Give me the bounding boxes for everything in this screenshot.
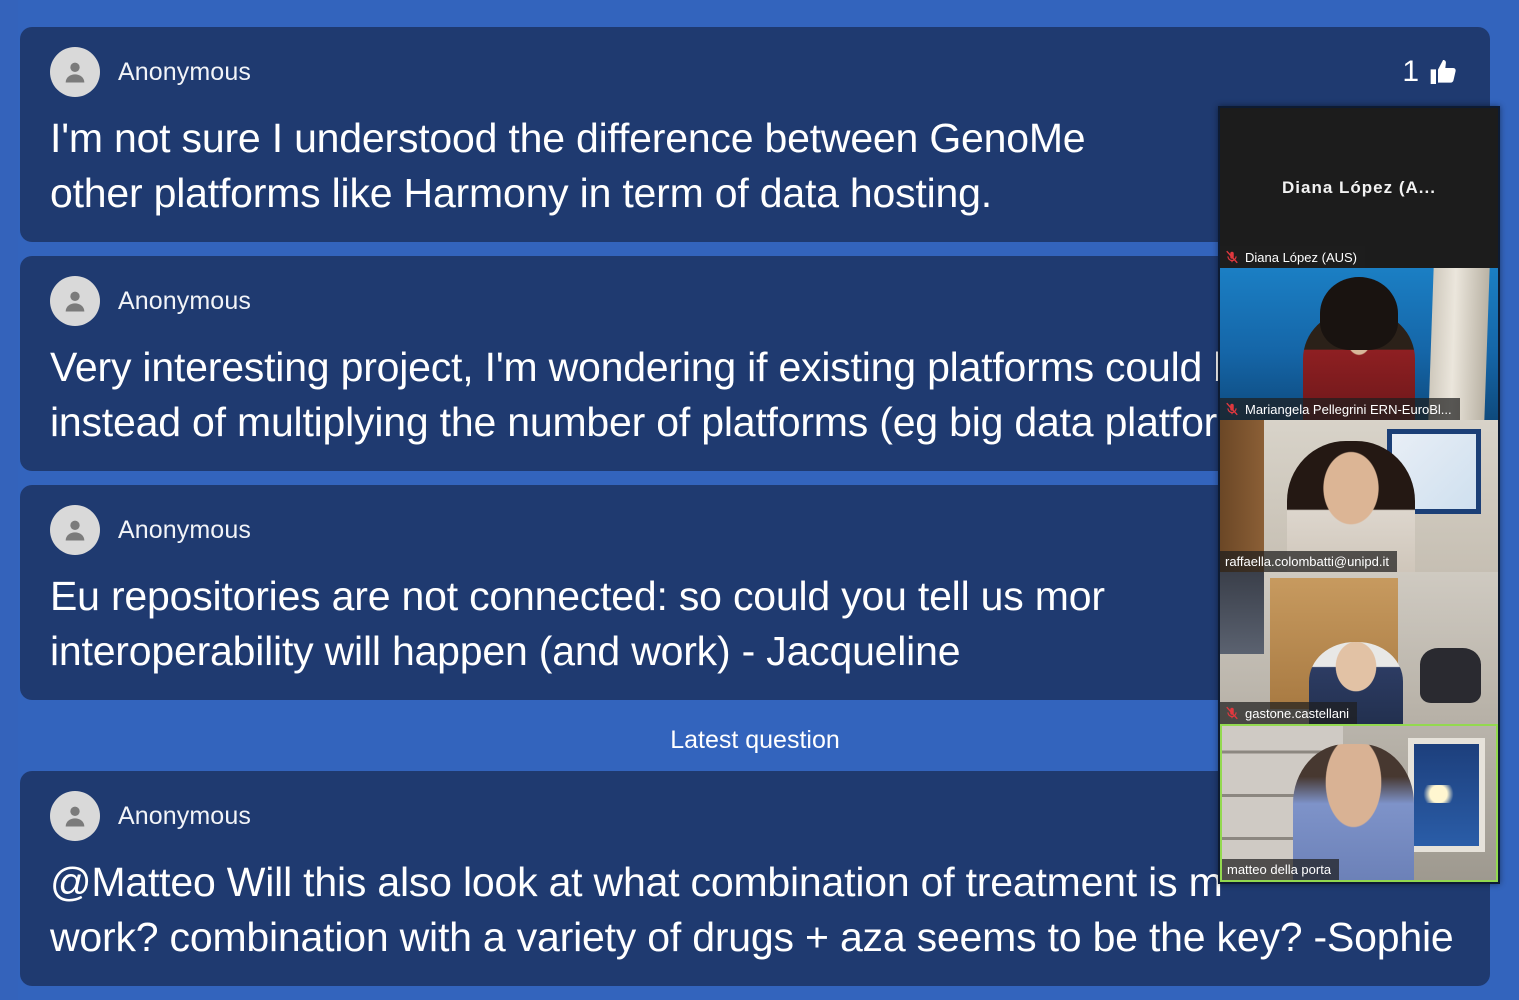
- video-tile-center-name: Diana López (A...: [1282, 178, 1436, 198]
- question-author: Anonymous: [118, 287, 251, 316]
- video-tile-name-label: gastone.castellani: [1245, 706, 1349, 721]
- video-tile-namebar: matteo della porta: [1222, 859, 1339, 880]
- video-tile-namebar: gastone.castellani: [1220, 702, 1357, 724]
- microphone-muted-icon: [1225, 705, 1239, 721]
- video-tile-namebar: Diana López (AUS): [1220, 246, 1365, 268]
- video-tile[interactable]: gastone.castellani: [1220, 572, 1498, 724]
- video-tile-name-label: matteo della porta: [1227, 862, 1331, 877]
- video-tile-namebar: Mariangela Pellegrini ERN-EuroBl...: [1220, 398, 1460, 420]
- question-author: Anonymous: [118, 58, 251, 87]
- microphone-muted-icon: [1225, 401, 1239, 417]
- question-author: Anonymous: [118, 516, 251, 545]
- microphone-muted-icon: [1225, 249, 1239, 265]
- video-tile-name-label: Diana López (AUS): [1245, 250, 1357, 265]
- video-tile[interactable]: raffaella.colombatti@unipd.it: [1220, 420, 1498, 572]
- video-tile[interactable]: Diana López (A... Diana López (AUS): [1220, 108, 1498, 268]
- like-counter[interactable]: 1: [1402, 56, 1460, 88]
- question-card-header: Anonymous 1: [50, 45, 1460, 99]
- video-tile-name-label: raffaella.colombatti@unipd.it: [1225, 554, 1389, 569]
- video-participants-panel[interactable]: Diana López (A... Diana López (AUS): [1218, 106, 1500, 884]
- person-avatar-icon: [50, 47, 100, 97]
- video-tile-namebar: raffaella.colombatti@unipd.it: [1220, 551, 1397, 572]
- person-avatar-icon: [50, 791, 100, 841]
- video-tile-name-label: Mariangela Pellegrini ERN-EuroBl...: [1245, 402, 1452, 417]
- video-feed-image: [1220, 420, 1498, 572]
- video-tile-active-speaker[interactable]: matteo della porta: [1220, 724, 1498, 882]
- like-count-value: 1: [1402, 57, 1419, 87]
- video-feed-image: [1222, 726, 1496, 880]
- page-left-edge-strip: [0, 0, 18, 1000]
- question-text-line: work? combination with a variety of drug…: [50, 910, 1460, 965]
- person-avatar-icon: [50, 276, 100, 326]
- video-tile[interactable]: Mariangela Pellegrini ERN-EuroBl...: [1220, 268, 1498, 420]
- question-author: Anonymous: [118, 802, 251, 831]
- thumbs-up-icon[interactable]: [1428, 56, 1460, 88]
- person-avatar-icon: [50, 505, 100, 555]
